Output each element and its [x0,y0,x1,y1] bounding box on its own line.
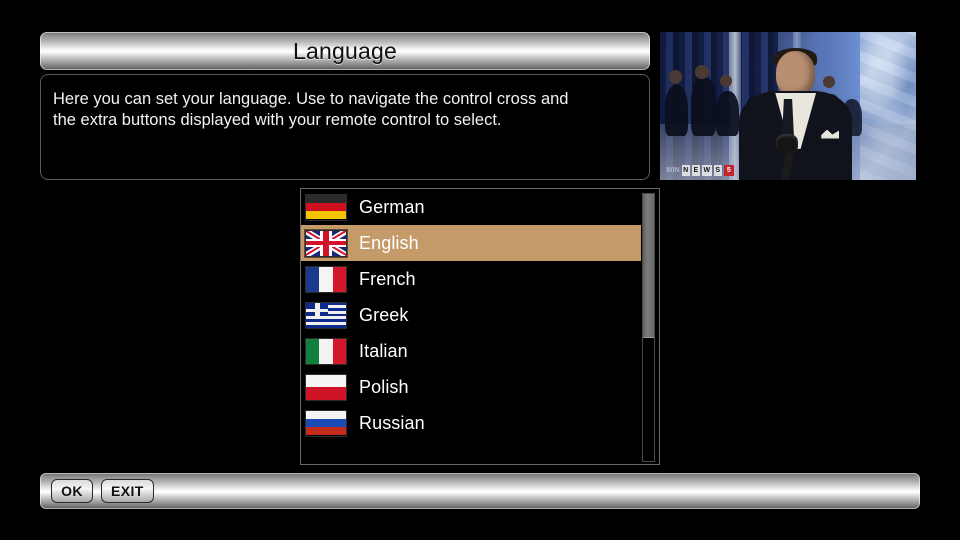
flag-greece-icon [305,302,347,329]
video-crowd-head [823,76,835,88]
flag-united-kingdom-icon [305,230,347,257]
language-option-french[interactable]: French [301,261,641,297]
flag-russia-icon [305,410,347,437]
video-crowd-figure [691,76,717,135]
language-label: Italian [359,341,408,362]
video-crowd-head [669,70,682,83]
flag-poland-icon [305,374,347,401]
language-list[interactable]: German English French [301,189,641,464]
description-line-1: Here you can set your language. Use to n… [53,89,635,110]
tv-settings-screen: Language Here you can set your language.… [0,0,960,540]
flag-italy-icon [305,338,347,365]
language-label: English [359,233,419,254]
language-label: Polish [359,377,409,398]
language-list-panel: German English French [300,188,660,465]
language-option-german[interactable]: German [301,189,641,225]
video-crowd-figure [665,85,688,135]
logo-letter: W [702,165,712,176]
flag-germany-icon [305,194,347,221]
page-title: Language [293,38,397,65]
exit-button-label: EXIT [111,483,144,499]
language-option-italian[interactable]: Italian [301,333,641,369]
list-scrollbar-thumb[interactable] [643,194,654,338]
description-line-2: the extra buttons displayed with your re… [53,110,635,131]
list-scrollbar-track[interactable] [642,193,655,462]
logo-letter: E [692,165,700,176]
language-option-russian[interactable]: Russian [301,405,641,441]
exit-button[interactable]: EXIT [101,479,154,503]
language-label: German [359,197,425,218]
language-option-polish[interactable]: Polish [301,369,641,405]
logo-watermark: WIN [666,167,680,174]
language-label: Russian [359,413,425,434]
reporter-head [776,51,814,95]
description-box: Here you can set your language. Use to n… [40,74,650,180]
video-crowd-figure [716,91,739,135]
logo-channel-number: 5 [724,165,734,176]
page-title-bar: Language [40,32,650,70]
ok-button[interactable]: OK [51,479,93,503]
language-label: Greek [359,305,409,326]
language-option-english[interactable]: English [301,225,641,261]
broadcaster-logo: WIN N E W S 5 [666,165,734,176]
language-option-greek[interactable]: Greek [301,297,641,333]
microphone-icon [776,134,798,153]
video-preview[interactable]: WIN N E W S 5 [660,32,916,180]
logo-letter: S [714,165,722,176]
flag-france-icon [305,266,347,293]
language-label: French [359,269,416,290]
ok-button-label: OK [61,483,83,499]
logo-letter: N [682,165,690,176]
footer-button-bar: OK EXIT [40,473,920,509]
